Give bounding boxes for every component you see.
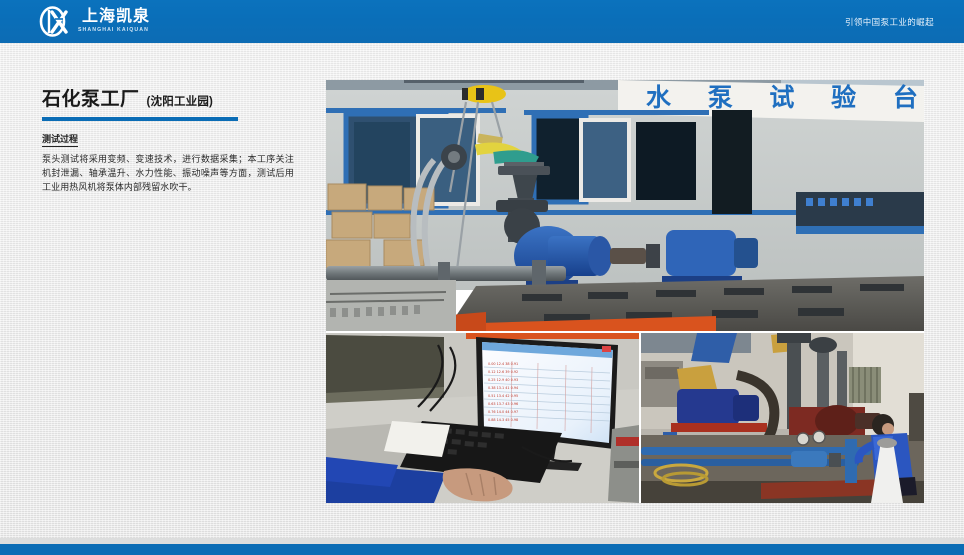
- logo-name-en: SHANGHAI KAIQUAN: [78, 28, 150, 33]
- svg-text:0.88 14.3 45 0.98: 0.88 14.3 45 0.98: [488, 418, 518, 422]
- title-row: 石化泵工厂 (沈阳工业园): [42, 84, 304, 111]
- kaiquan-k-x-monogram-icon: [38, 6, 78, 37]
- svg-text:0.25 12.9 40 0.93: 0.25 12.9 40 0.93: [488, 378, 518, 382]
- svg-text:0.12 12.6 39 0.92: 0.12 12.6 39 0.92: [488, 370, 518, 374]
- svg-text:0.51 13.4 42 0.95: 0.51 13.4 42 0.95: [488, 394, 518, 398]
- page-header: 上海凯泉 SHANGHAI KAIQUAN 引领中国泵工业的崛起: [0, 0, 964, 43]
- page-subtitle: (沈阳工业园): [147, 93, 214, 109]
- page-title: 石化泵工厂: [42, 84, 140, 111]
- page-footer-bar: [0, 544, 964, 555]
- slide-page: 上海凯泉 SHANGHAI KAIQUAN 引领中国泵工业的崛起 石化泵工厂 (…: [0, 0, 964, 555]
- svg-text:0.76 14.0 44 0.97: 0.76 14.0 44 0.97: [488, 410, 518, 414]
- logo-name-cn: 上海凯泉: [82, 9, 150, 25]
- header-slogan: 引领中国泵工业的崛起: [845, 0, 934, 43]
- svg-text:水 泵 试 验 台: 水 泵 试 验 台: [646, 83, 924, 112]
- section-heading: 测试过程: [42, 134, 78, 147]
- photo-pump-test-bay: [641, 333, 924, 503]
- svg-text:0.63 13.7 43 0.96: 0.63 13.7 43 0.96: [488, 402, 518, 406]
- section-body-text: 泵头测试将采用变频、变速技术，进行数据采集；本工序关注机封泄漏、轴承温升、水力性…: [42, 153, 294, 195]
- photo-pump-test-bench: 水 泵 试 验 台: [326, 80, 924, 331]
- photo-collage: 水 泵 试 验 台: [326, 80, 924, 503]
- svg-text:0.38 13.1 41 0.94: 0.38 13.1 41 0.94: [488, 386, 518, 390]
- svg-text:0.00 12.4 38 0.91: 0.00 12.4 38 0.91: [488, 362, 518, 366]
- photo-data-acquisition-workstation: 0.00 12.4 38 0.910.12 12.6 39 0.92 0.25 …: [326, 333, 639, 503]
- slide-text-column: 石化泵工厂 (沈阳工业园) 测试过程 泵头测试将采用变频、变速技术，进行数据采集…: [42, 84, 304, 195]
- company-logo[interactable]: 上海凯泉 SHANGHAI KAIQUAN: [38, 5, 150, 38]
